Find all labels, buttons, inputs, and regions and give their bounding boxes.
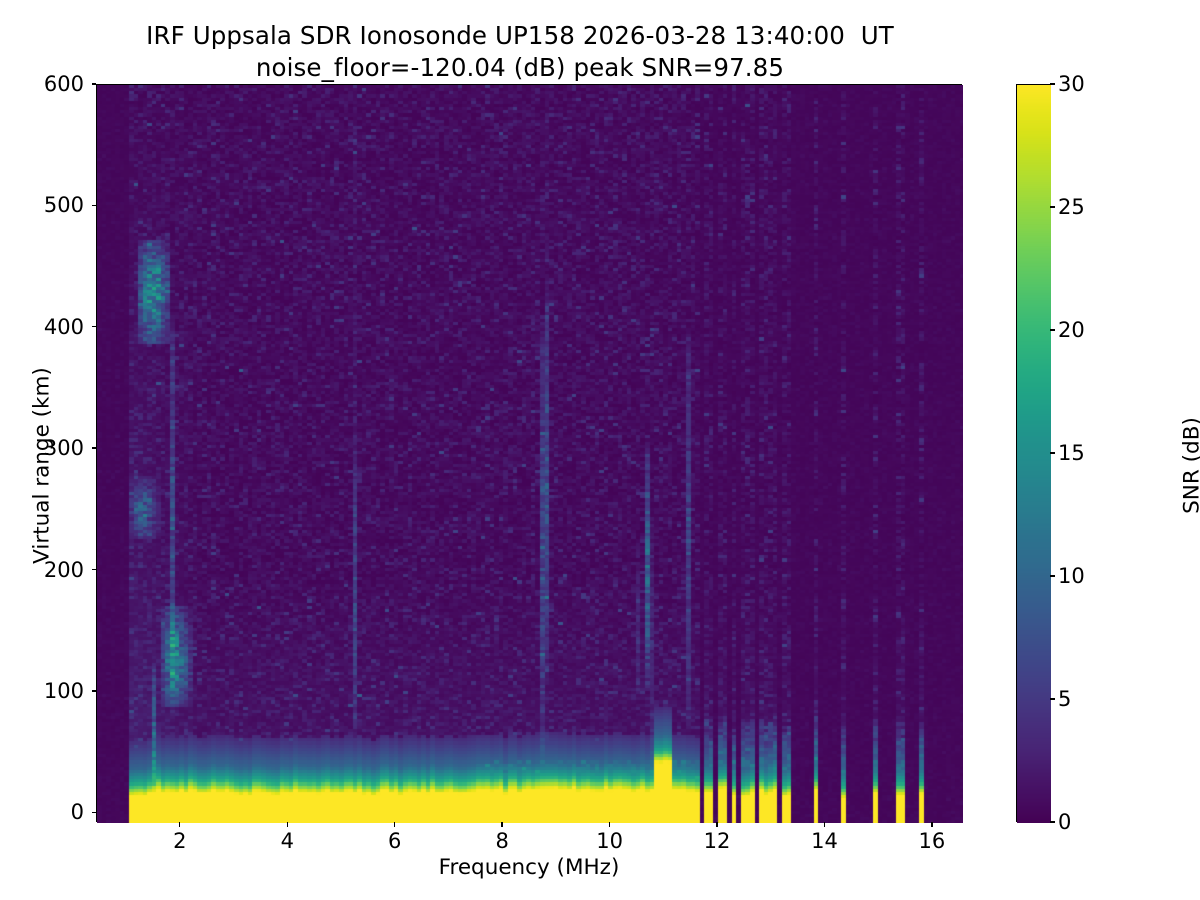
x-axis-label: Frequency (MHz)	[96, 855, 962, 880]
x-tick-mark	[716, 822, 717, 827]
x-tick-label: 8	[495, 829, 508, 853]
plot-axes	[96, 84, 962, 822]
x-tick-mark	[501, 822, 502, 827]
y-tick-mark	[92, 205, 97, 206]
x-tick-label: 14	[811, 829, 838, 853]
y-tick-label: 100	[0, 679, 84, 703]
colorbar-tick-label: 30	[1058, 72, 1085, 96]
colorbar-canvas	[1017, 85, 1051, 823]
title-line-primary: IRF Uppsala SDR Ionosonde UP158 2026-03-…	[0, 20, 1040, 52]
x-tick-mark	[394, 822, 395, 827]
colorbar-tick-label: 5	[1058, 687, 1071, 711]
y-tick-label: 500	[0, 193, 84, 217]
x-tick-label: 2	[173, 829, 186, 853]
colorbar-tick-label: 20	[1058, 318, 1085, 342]
x-tick-label: 4	[281, 829, 294, 853]
x-tick-label: 12	[704, 829, 731, 853]
colorbar-tick-mark	[1050, 575, 1055, 576]
colorbar-tick-mark	[1050, 821, 1055, 822]
title-line-secondary: noise_floor=-120.04 (dB) peak SNR=97.85	[0, 52, 1040, 84]
x-tick-mark	[179, 822, 180, 827]
x-tick-label: 16	[919, 829, 946, 853]
colorbar-tick-label: 0	[1058, 810, 1071, 834]
colorbar-label: SNR (dB)	[1180, 356, 1200, 576]
colorbar-tick-mark	[1050, 206, 1055, 207]
x-tick-mark	[609, 822, 610, 827]
y-tick-label: 600	[0, 72, 84, 96]
colorbar-tick-mark	[1050, 329, 1055, 330]
y-tick-mark	[92, 812, 97, 813]
y-axis-label: Virtual range (km)	[30, 361, 55, 571]
figure-title: IRF Uppsala SDR Ionosonde UP158 2026-03-…	[0, 20, 1040, 84]
y-tick-label: 400	[0, 315, 84, 339]
colorbar-tick-label: 10	[1058, 564, 1085, 588]
y-tick-mark	[92, 326, 97, 327]
x-tick-mark	[287, 822, 288, 827]
colorbar-tick-label: 25	[1058, 195, 1085, 219]
x-tick-label: 10	[596, 829, 623, 853]
y-tick-mark	[92, 569, 97, 570]
ionogram-figure: IRF Uppsala SDR Ionosonde UP158 2026-03-…	[0, 0, 1200, 900]
ionogram-heatmap	[97, 85, 963, 823]
colorbar-gradient	[1016, 84, 1050, 822]
colorbar-tick-mark	[1050, 452, 1055, 453]
colorbar-tick-label: 15	[1058, 441, 1085, 465]
x-tick-mark	[824, 822, 825, 827]
y-tick-mark	[92, 83, 97, 84]
x-tick-mark	[931, 822, 932, 827]
y-tick-label: 0	[0, 800, 84, 824]
colorbar: 051015202530	[1016, 84, 1050, 822]
colorbar-tick-mark	[1050, 698, 1055, 699]
y-tick-mark	[92, 690, 97, 691]
y-tick-mark	[92, 447, 97, 448]
colorbar-tick-mark	[1050, 83, 1055, 84]
x-tick-label: 6	[388, 829, 401, 853]
